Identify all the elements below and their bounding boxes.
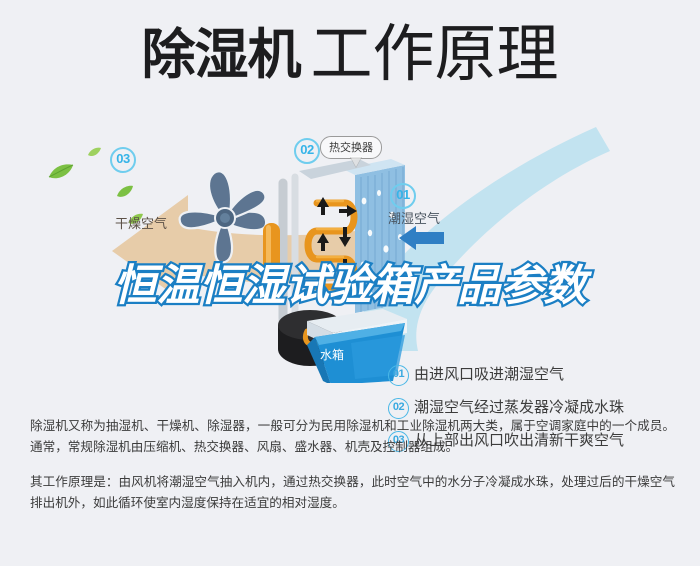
diagram-badge-03: 03 [110, 147, 136, 173]
watermark-text: 恒温恒湿试验箱产品参数 [114, 261, 587, 311]
list-item: 01 由进风口吸进潮湿空气 [388, 363, 688, 396]
label-humid-air: 潮湿空气 [388, 208, 440, 227]
callout-tail-icon [350, 156, 362, 167]
step-text: 潮湿空气经过蒸发器冷凝成水珠 [414, 396, 624, 417]
label-dry-air: 干燥空气 [115, 213, 167, 232]
description-paragraph-1: 除湿机又称为抽湿机、干燥机、除湿器，一般可分为民用除湿机和工业除湿机两大类，属于… [30, 415, 675, 457]
label-water-tank: 水箱 [320, 346, 344, 363]
description-paragraph-2: 其工作原理是：由风机将潮湿空气抽入机内，通过热交换器，此时空气中的水分子冷凝成水… [30, 471, 675, 513]
humid-air-inlet-arrow-icon [398, 225, 444, 251]
step-text: 由进风口吸进潮湿空气 [414, 363, 564, 384]
diagram-badge-02: 02 [294, 138, 320, 164]
page-title-part2: 工作原理 [310, 20, 558, 89]
diagram-badge-01: 01 [390, 183, 416, 209]
description-block: 除湿机又称为抽湿机、干燥机、除湿器，一般可分为民用除湿机和工业除湿机两大类，属于… [30, 415, 675, 513]
page-title: 除湿机工作原理 [0, 24, 700, 86]
step-badge: 01 [388, 365, 409, 386]
page-root: 除湿机工作原理 [0, 0, 700, 566]
leaf-icon [88, 147, 102, 158]
leaf-icon [48, 163, 74, 181]
leaf-icon [116, 185, 134, 199]
watermark-overlay: 恒温恒湿试验箱产品参数 [0, 262, 700, 311]
page-title-part1: 除湿机 [141, 23, 300, 86]
